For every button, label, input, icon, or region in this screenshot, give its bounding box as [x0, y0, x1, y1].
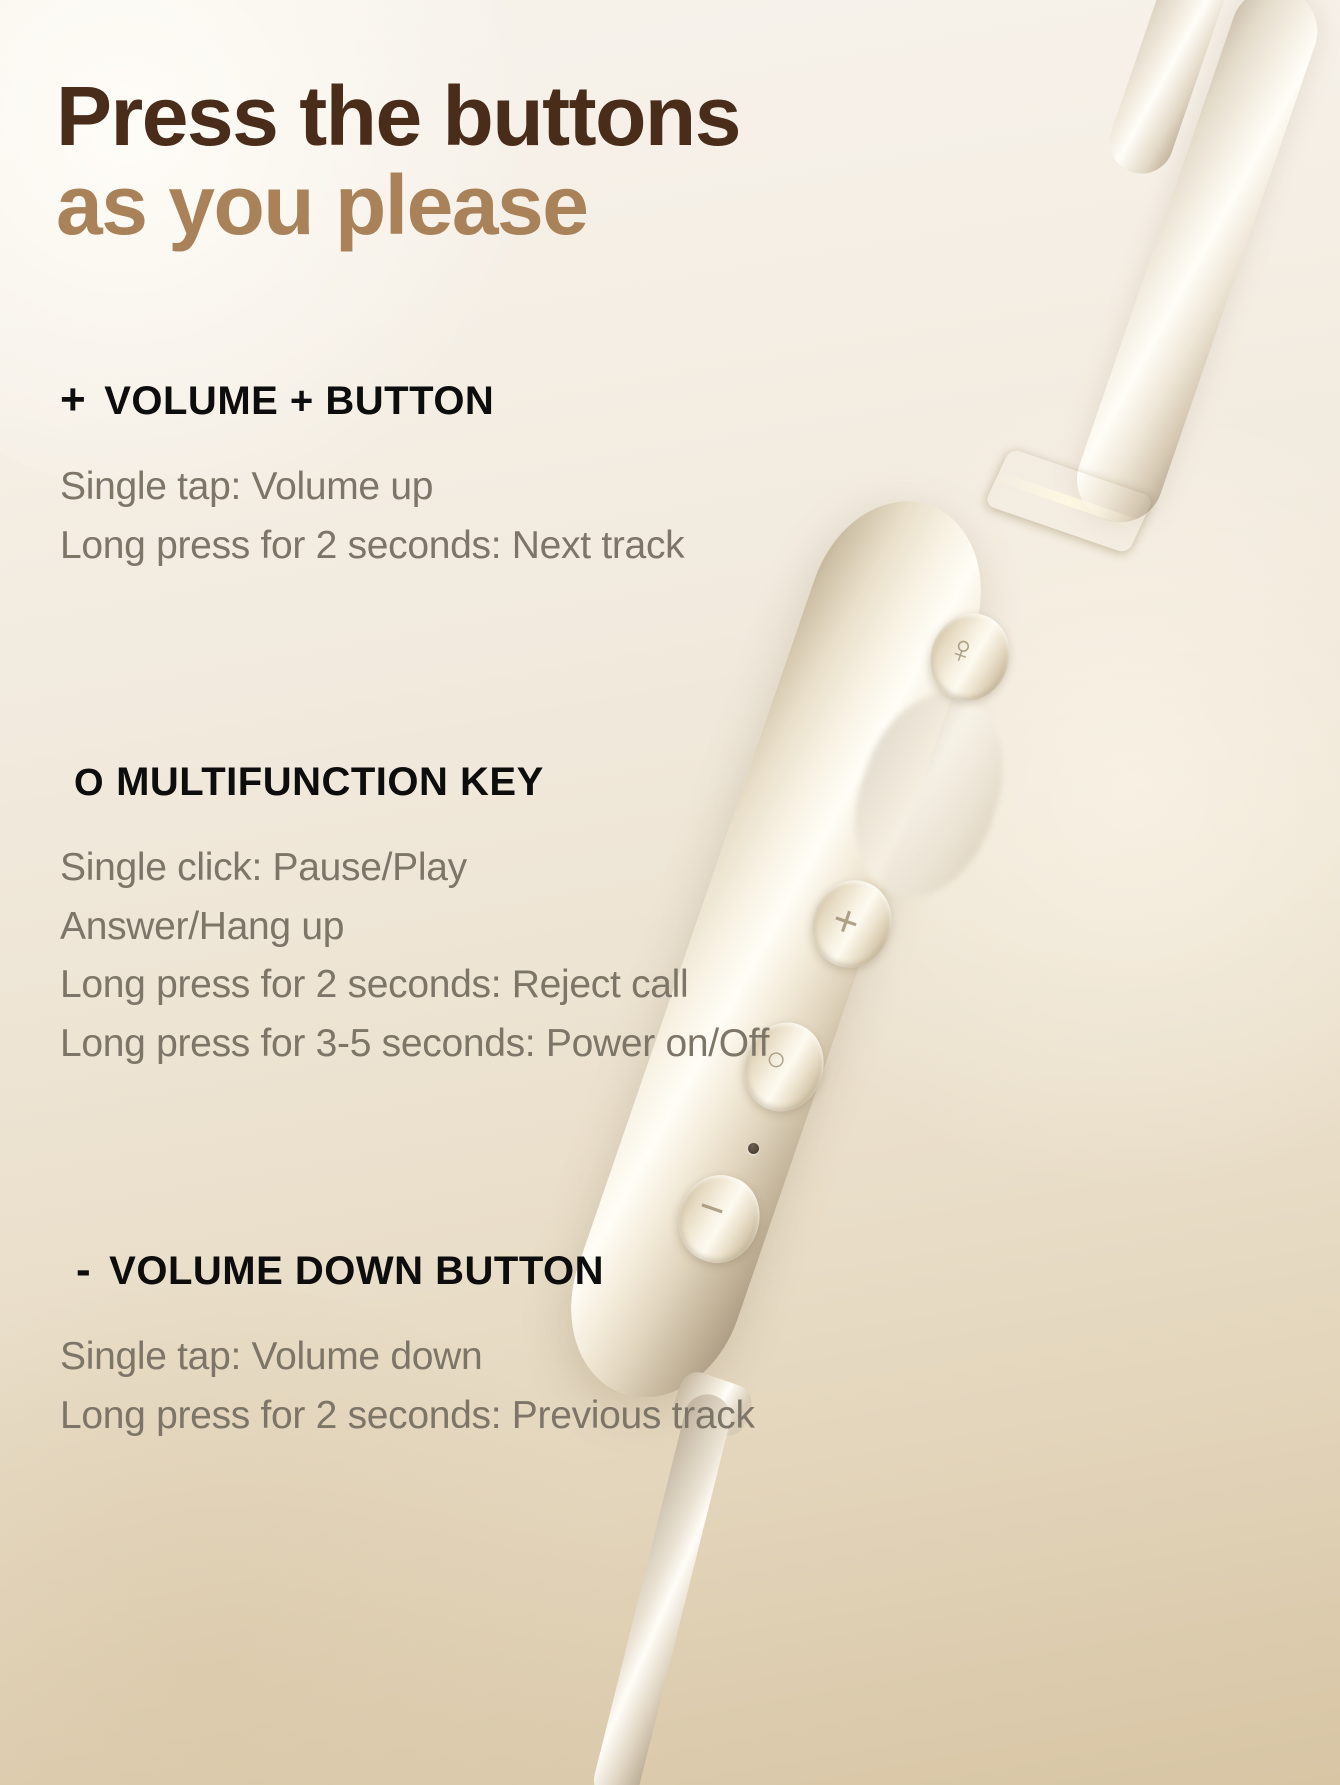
section-body-volume-down: Single tap: Volume down Long press for 2…: [60, 1328, 755, 1445]
instruction-line: Long press for 2 seconds: Next track: [60, 517, 684, 576]
instruction-line: Long press for 3-5 seconds: Power on/Off: [60, 1015, 769, 1074]
section-volume-down: - VOLUME DOWN BUTTON Single tap: Volume …: [60, 1248, 755, 1445]
page-title: Press the buttons as you please: [56, 72, 1036, 250]
microphone-icon: ♀: [940, 624, 983, 676]
section-body-volume-up: Single tap: Volume up Long press for 2 s…: [60, 458, 684, 575]
instruction-line: Single tap: Volume up: [60, 458, 684, 517]
control-module-waist-shadow: [831, 674, 1028, 917]
section-volume-up: + VOLUME + BUTTON Single tap: Volume up …: [60, 378, 684, 575]
section-body-multifunction: Single click: Pause/Play Answer/Hang up …: [60, 839, 769, 1073]
minus-symbol-icon: -: [76, 1248, 91, 1292]
section-multifunction: O MULTIFUNCTION KEY Single click: Pause/…: [60, 760, 769, 1073]
earbud-stem-tip: [1101, 0, 1259, 182]
instruction-line: Single tap: Volume down: [60, 1328, 755, 1387]
instruction-line: Single click: Pause/Play: [60, 839, 769, 898]
microphone-button: [919, 603, 1021, 712]
section-heading-volume-up: + VOLUME + BUTTON: [60, 378, 684, 424]
volume-up-button: [801, 870, 903, 979]
cable: [589, 1389, 735, 1785]
section-heading-label: VOLUME DOWN BUTTON: [109, 1249, 604, 1294]
instruction-line: Long press for 2 seconds: Previous track: [60, 1387, 755, 1446]
background-glow-right: [720, 380, 1340, 1200]
infographic-page: ♀ + ○ − Press the buttons as you please …: [0, 0, 1340, 1785]
plus-symbol-icon: +: [60, 378, 86, 422]
section-heading-label: VOLUME + BUTTON: [104, 379, 494, 424]
gold-accent-ring: [984, 448, 1154, 554]
section-heading-multifunction: O MULTIFUNCTION KEY: [74, 760, 769, 805]
circle-symbol-icon: O: [74, 764, 104, 802]
earbud-stem: [1065, 0, 1329, 534]
plus-icon: +: [826, 894, 867, 950]
section-heading-label: MULTIFUNCTION KEY: [116, 760, 544, 805]
title-line-1: Press the buttons: [56, 72, 1036, 161]
minus-icon: −: [692, 1181, 733, 1237]
led-indicator: [747, 1142, 761, 1156]
title-line-2: as you please: [56, 161, 1036, 250]
instruction-line: Long press for 2 seconds: Reject call: [60, 956, 769, 1015]
instruction-line: Answer/Hang up: [60, 898, 769, 957]
section-heading-volume-down: - VOLUME DOWN BUTTON: [76, 1248, 755, 1294]
